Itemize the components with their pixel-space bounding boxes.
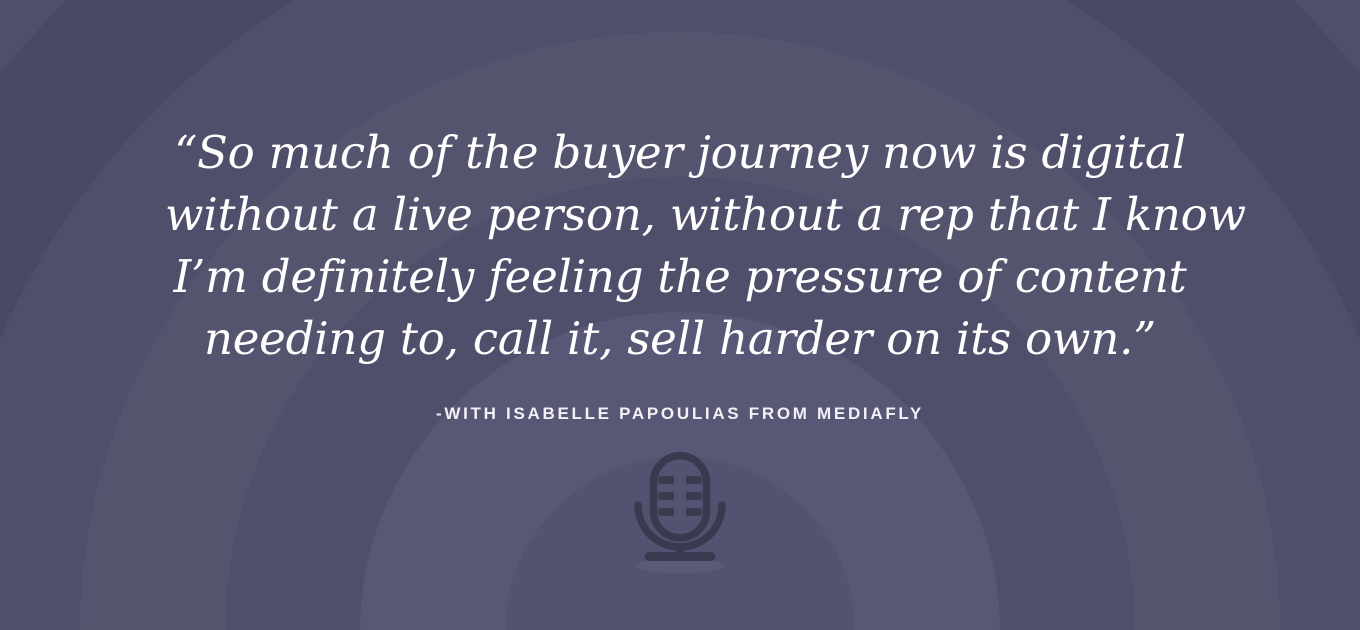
quote-line-1: “So much of the buyer journey now is dig… bbox=[165, 122, 1195, 184]
quote-text: “So much of the buyer journey now is dig… bbox=[165, 122, 1195, 370]
quote-attribution: -WITH ISABELLE PAPOULIAS FROM MEDIAFLY bbox=[436, 404, 924, 424]
quote-line-3: I’m definitely feeling the pressure of c… bbox=[165, 246, 1195, 308]
quote-line-2: without a live person, without a rep tha… bbox=[165, 184, 1195, 246]
microphone-icon bbox=[633, 452, 727, 574]
card-content: “So much of the buyer journey now is dig… bbox=[0, 0, 1360, 630]
quote-line-4: needing to, call it, sell harder on its … bbox=[165, 308, 1195, 370]
quote-card: “So much of the buyer journey now is dig… bbox=[0, 0, 1360, 630]
microphone-icon-wrapper bbox=[625, 452, 735, 582]
